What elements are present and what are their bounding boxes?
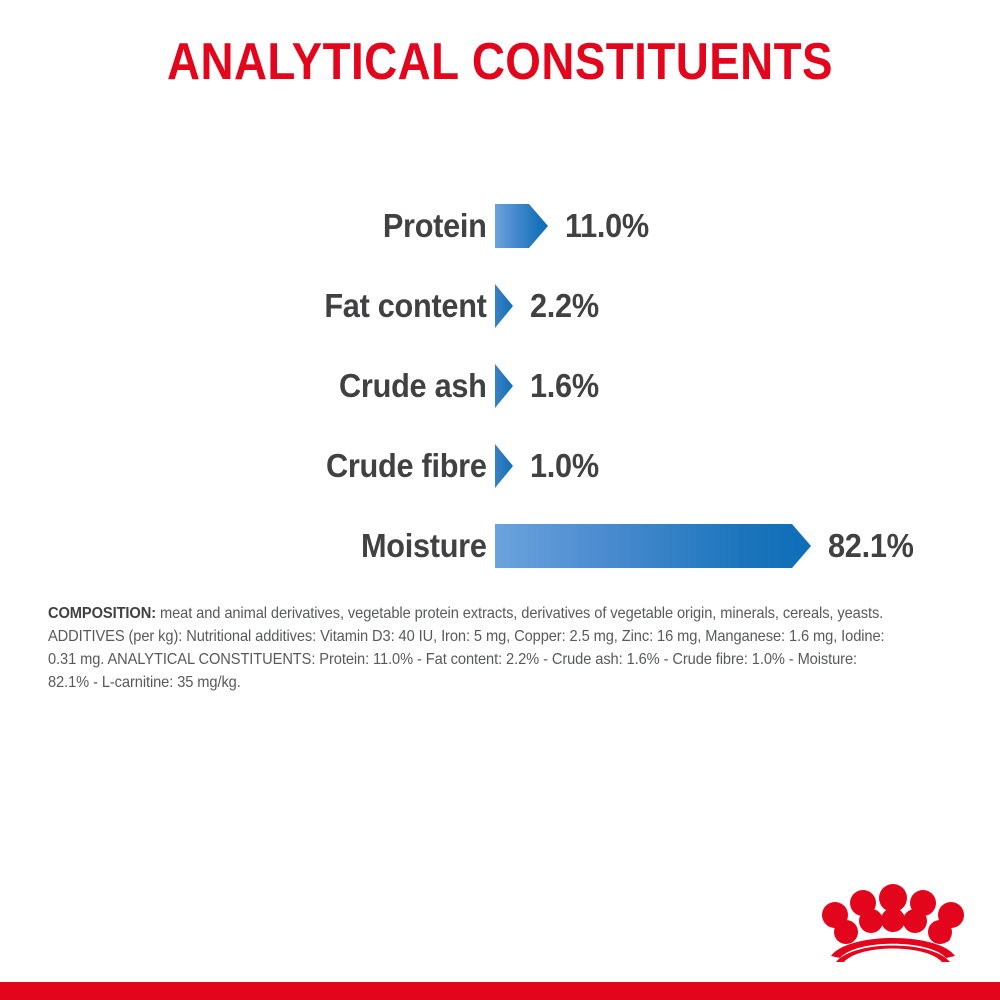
constituent-bar-arrow xyxy=(495,524,811,568)
constituent-row-crude-ash: Crude ash 1.6% xyxy=(0,346,1000,426)
constituent-value: 2.2% xyxy=(530,287,599,325)
constituent-bar-wrap xyxy=(495,364,513,408)
registered-trademark-mark: ® xyxy=(941,930,951,945)
composition-lead-label: COMPOSITION: xyxy=(48,605,156,622)
constituent-bar-arrow xyxy=(495,444,513,488)
constituent-label: Moisture xyxy=(35,527,495,565)
analytical-constituents-chart: Protein 11.0% Fat content 2.2% Crude ash… xyxy=(0,186,1000,586)
constituent-bar-arrow xyxy=(495,204,548,248)
composition-paragraph: COMPOSITION: meat and animal derivatives… xyxy=(48,602,899,694)
royal-canin-crown-logo xyxy=(818,884,968,962)
constituent-value: 1.6% xyxy=(530,367,599,405)
constituent-row-fat-content: Fat content 2.2% xyxy=(0,266,1000,346)
footer-red-bar xyxy=(0,982,1000,1000)
constituent-label: Crude ash xyxy=(35,367,495,405)
constituent-bar-wrap xyxy=(495,284,513,328)
constituent-bar-arrow xyxy=(495,284,513,328)
constituent-label: Fat content xyxy=(35,287,495,325)
constituent-row-protein: Protein 11.0% xyxy=(0,186,1000,266)
constituent-bar-wrap xyxy=(495,524,811,568)
constituent-bar-wrap xyxy=(495,204,548,248)
page-title: ANALYTICAL CONSTITUENTS xyxy=(60,32,940,92)
constituent-bar-arrow xyxy=(495,364,513,408)
constituent-row-crude-fibre: Crude fibre 1.0% xyxy=(0,426,1000,506)
constituent-label: Crude fibre xyxy=(35,447,495,485)
constituent-value: 1.0% xyxy=(530,447,599,485)
constituent-value: 11.0% xyxy=(565,207,649,245)
constituent-row-moisture: Moisture 82.1% xyxy=(0,506,1000,586)
constituent-bar-wrap xyxy=(495,444,513,488)
composition-body-text: meat and animal derivatives, vegetable p… xyxy=(48,605,885,691)
constituent-label: Protein xyxy=(35,207,495,245)
constituent-value: 82.1% xyxy=(828,527,914,565)
